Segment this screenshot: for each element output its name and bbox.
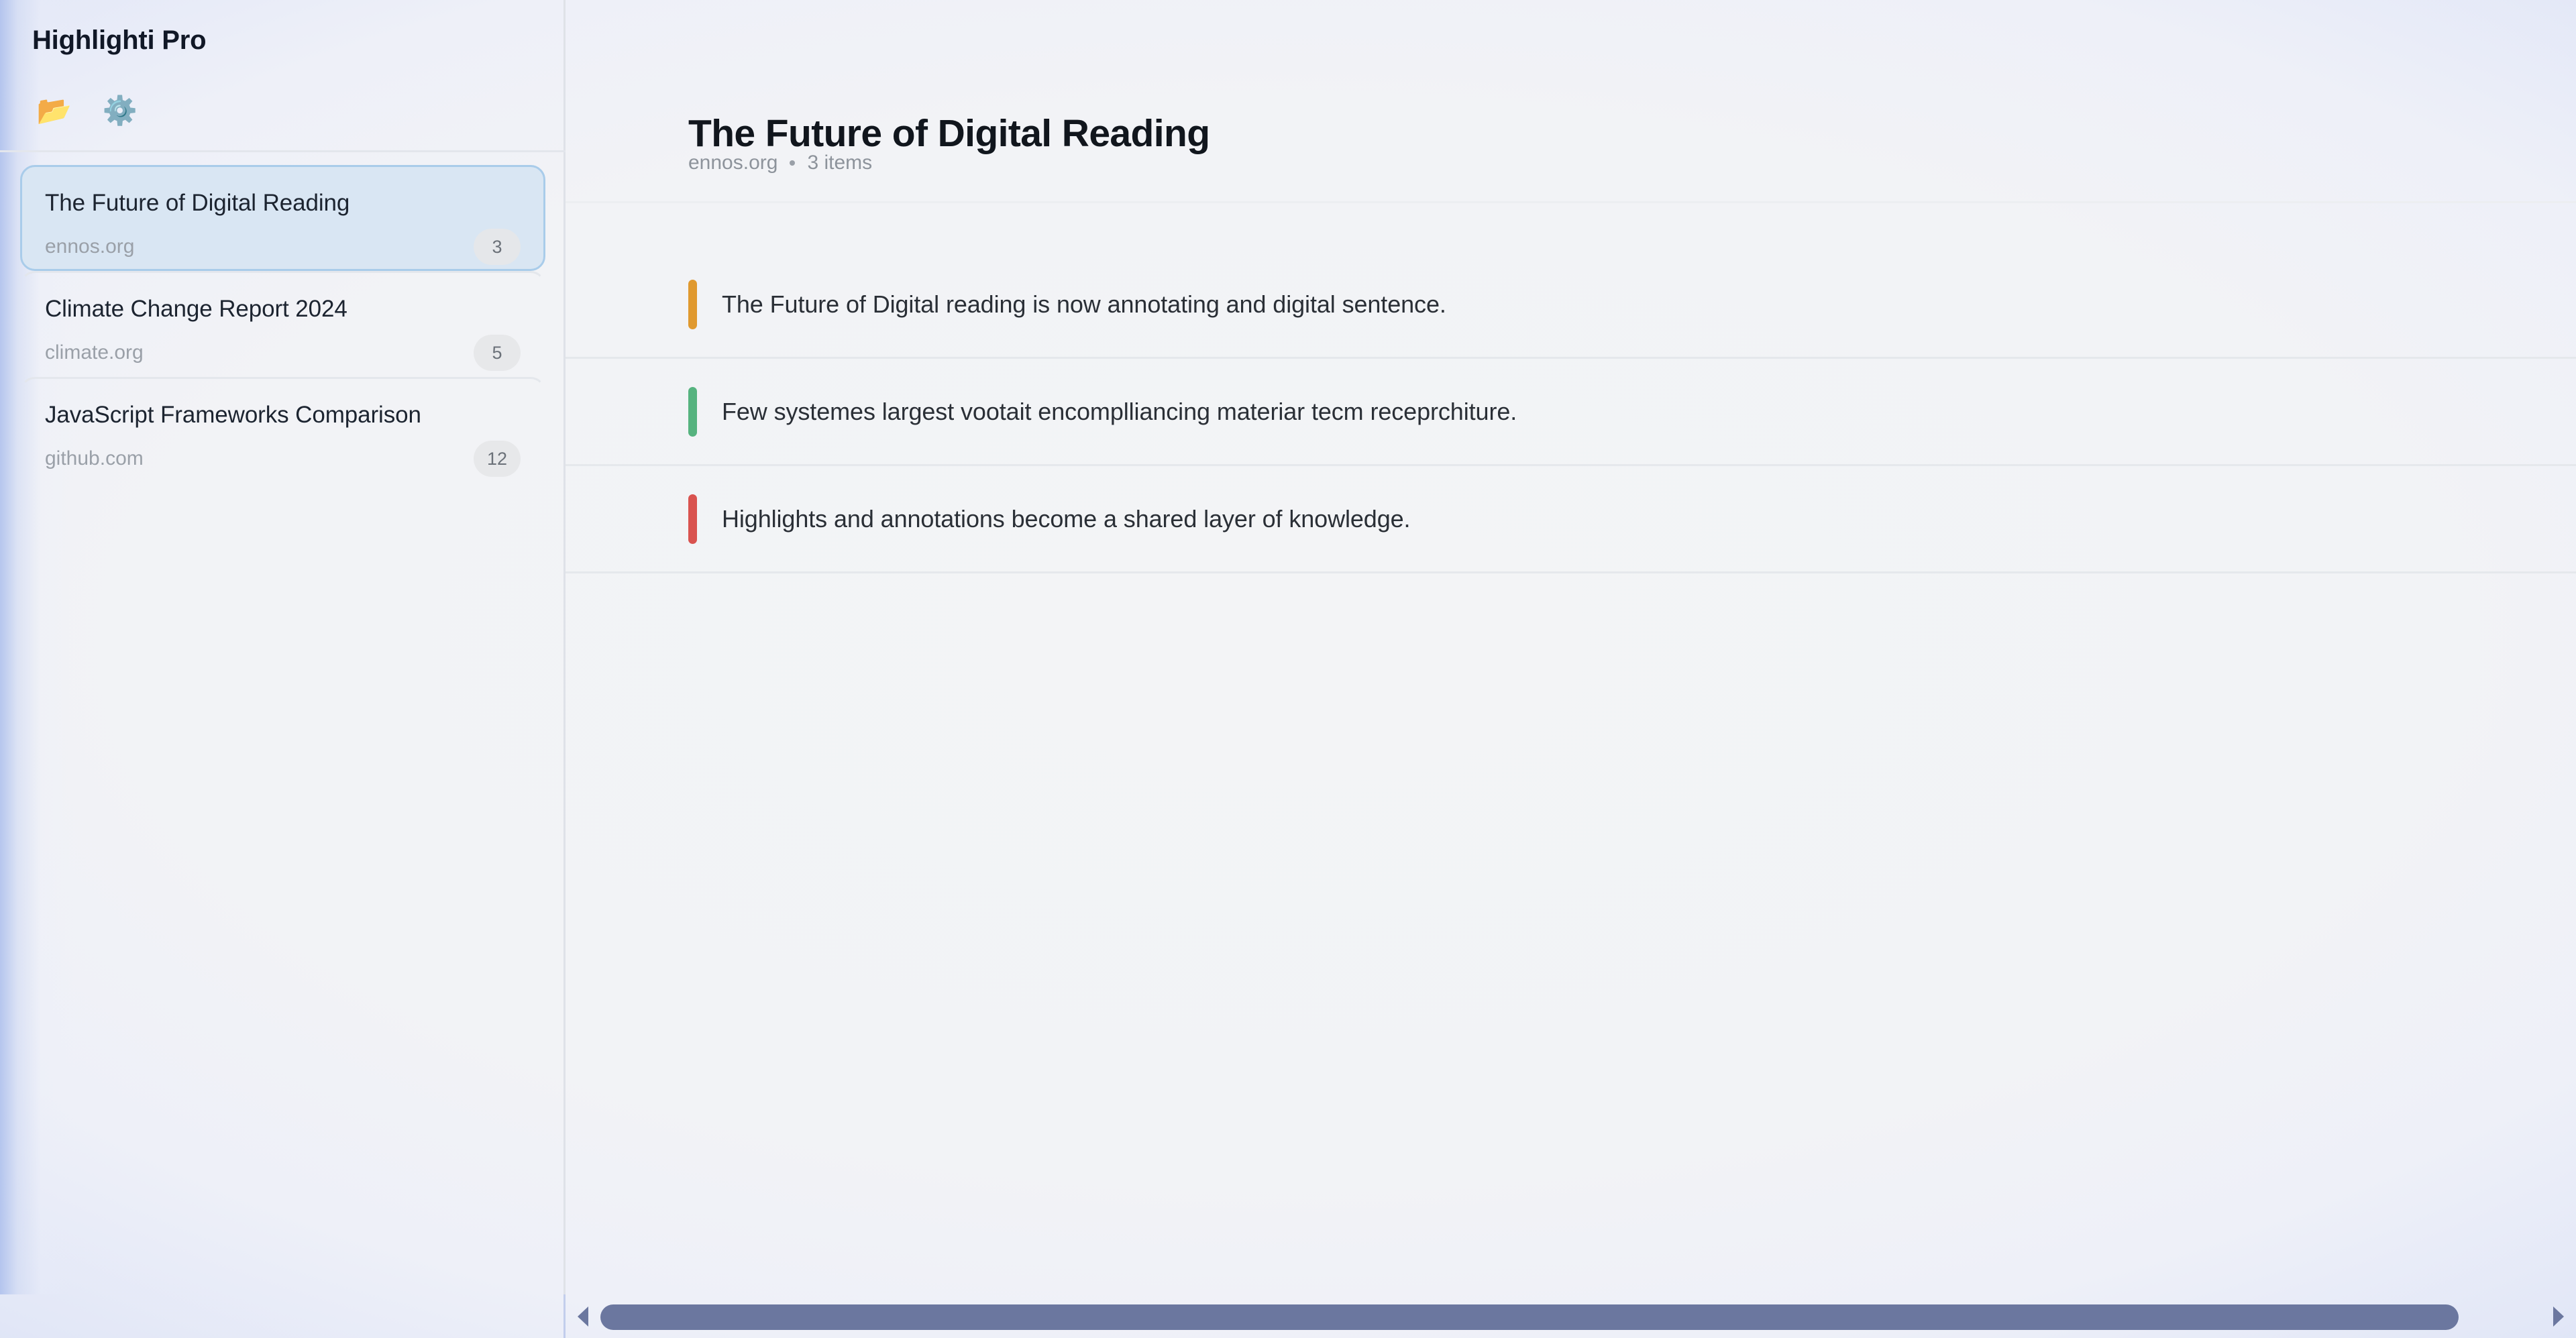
scrollbar-thumb[interactable]	[600, 1304, 2459, 1330]
list-item-footer: github.com 12	[45, 441, 521, 477]
highlight-row[interactable]: The Future of Digital reading is now ann…	[566, 252, 2576, 359]
list-item-domain: climate.org	[45, 341, 144, 364]
document-list: The Future of Digital Reading ennos.org …	[0, 165, 566, 483]
folder-icon[interactable]: 📂	[39, 95, 70, 126]
highlight-accent-bar	[688, 387, 697, 437]
scrollbar-track[interactable]	[600, 1294, 2541, 1338]
window-body: Highlighti Pro 📂 ⚙️ The Future of Digita…	[0, 0, 2576, 1294]
scroll-right-arrow-icon[interactable]	[2541, 1294, 2576, 1338]
list-item-footer: ennos.org 3	[45, 229, 521, 265]
main-content: The Future of Digital Reading ennos.org …	[566, 0, 2576, 1294]
highlight-accent-bar	[688, 494, 697, 544]
sidebar-item-the-future-of-digital-reading[interactable]: The Future of Digital Reading ennos.org …	[20, 165, 545, 271]
horizontal-scrollbar[interactable]	[566, 1294, 2576, 1338]
header-rule	[566, 201, 2576, 203]
list-item-count-badge: 12	[474, 441, 521, 477]
app-title: Highlighti Pro	[32, 25, 206, 56]
page-meta: ennos.org 3 items	[688, 152, 872, 174]
page-meta-domain: ennos.org	[688, 152, 777, 174]
highlight-accent-bar	[688, 280, 697, 329]
scroll-left-arrow-icon[interactable]	[566, 1294, 600, 1338]
scrollbar-corner	[0, 1294, 566, 1338]
sidebar-item-climate-change-report-2024[interactable]: Climate Change Report 2024 climate.org 5	[20, 271, 545, 377]
meta-separator-dot	[790, 160, 795, 166]
app-window: Highlighti Pro 📂 ⚙️ The Future of Digita…	[0, 0, 2576, 1338]
highlight-row[interactable]: Few systemes largest vootait encompllian…	[566, 359, 2576, 466]
page-title: The Future of Digital Reading	[688, 111, 1210, 156]
sidebar-header-divider	[0, 150, 566, 152]
list-item-domain: ennos.org	[45, 235, 134, 258]
list-item-domain: github.com	[45, 447, 144, 470]
sidebar-item-javascript-frameworks-comparison[interactable]: JavaScript Frameworks Comparison github.…	[20, 377, 545, 483]
highlight-text: The Future of Digital reading is now ann…	[722, 290, 1446, 319]
highlight-list: The Future of Digital reading is now ann…	[566, 252, 2576, 573]
sidebar-toolbar: 📂 ⚙️	[39, 95, 136, 126]
sidebar: Highlighti Pro 📂 ⚙️ The Future of Digita…	[0, 0, 566, 1294]
page-meta-count: 3 items	[807, 152, 872, 174]
settings-gear-icon[interactable]: ⚙️	[105, 95, 136, 126]
list-item-footer: climate.org 5	[45, 335, 521, 371]
list-item-title: Climate Change Report 2024	[45, 296, 521, 323]
highlight-text: Few systemes largest vootait encompllian…	[722, 398, 1517, 426]
list-item-count-badge: 5	[474, 335, 521, 371]
list-item-title: JavaScript Frameworks Comparison	[45, 402, 521, 429]
highlight-text: Highlights and annotations become a shar…	[722, 505, 1410, 533]
list-item-count-badge: 3	[474, 229, 521, 265]
highlight-row[interactable]: Highlights and annotations become a shar…	[566, 466, 2576, 573]
list-item-title: The Future of Digital Reading	[45, 190, 521, 217]
